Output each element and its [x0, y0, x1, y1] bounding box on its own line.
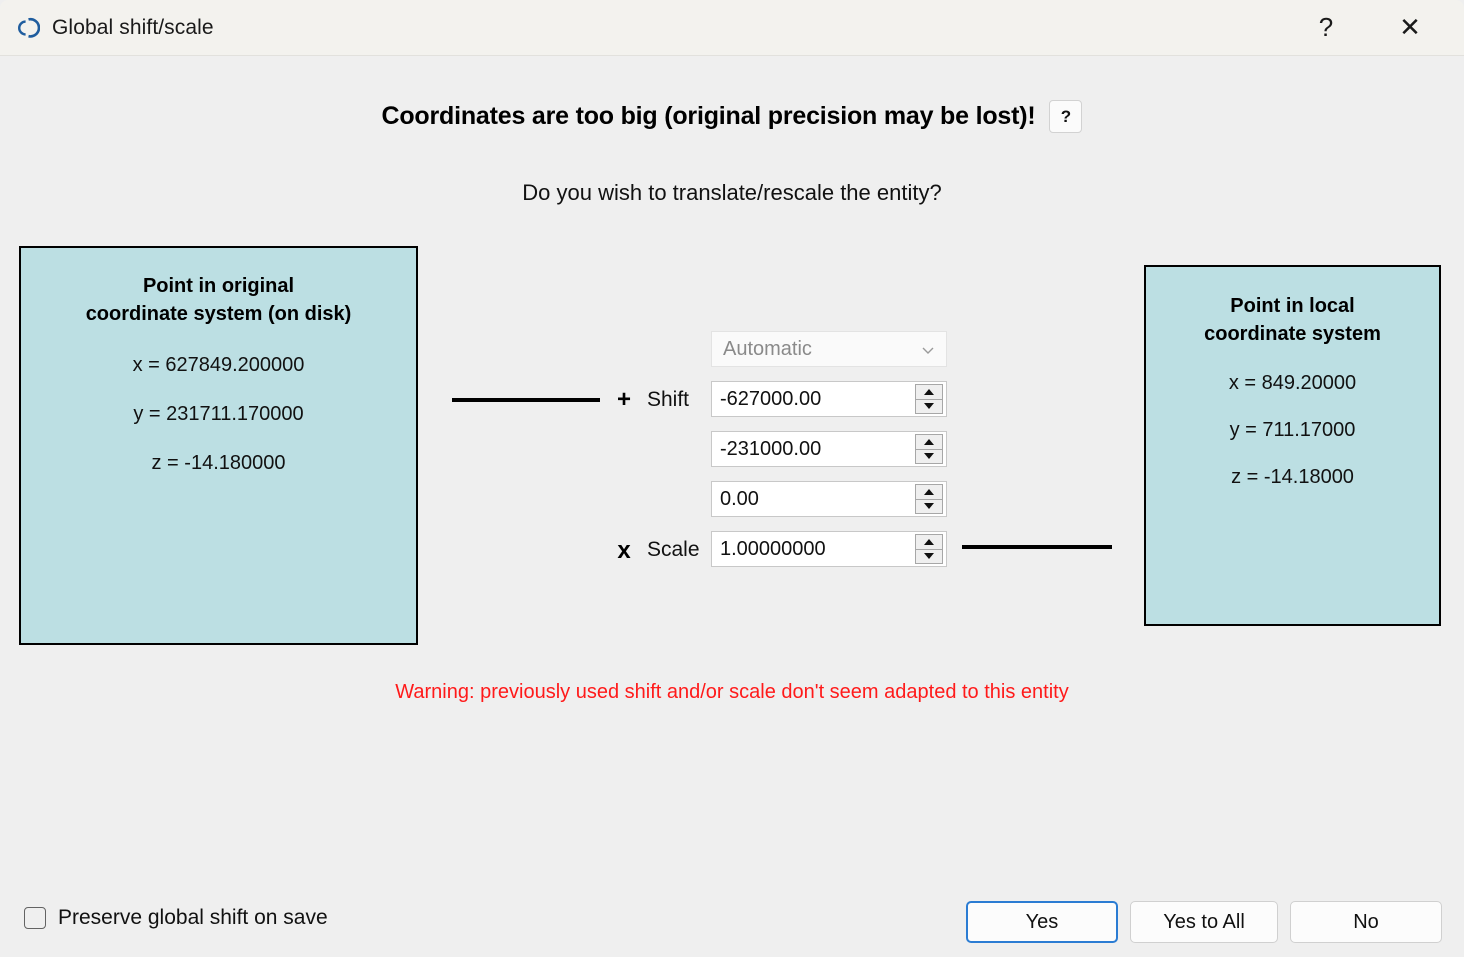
shift-x-increment-button[interactable]	[916, 385, 942, 399]
triangle-down-icon	[924, 403, 934, 409]
shift-y-field[interactable]: -231000.00	[711, 431, 947, 467]
shift-z-increment-button[interactable]	[916, 485, 942, 499]
connector-line-left	[452, 398, 600, 402]
scale-increment-button[interactable]	[916, 535, 942, 549]
shift-z-value: 0.00	[720, 488, 759, 511]
shift-y-increment-button[interactable]	[916, 435, 942, 449]
original-coordinates-box: Point in original coordinate system (on …	[19, 246, 418, 645]
scale-spinbox[interactable]: 1.00000000	[711, 531, 947, 567]
title-bar: Global shift/scale ? ✕	[0, 0, 1464, 56]
scale-field[interactable]: 1.00000000	[711, 531, 947, 567]
triangle-up-icon	[924, 539, 934, 545]
multiply-sign-icon: x	[612, 537, 636, 565]
shift-x-decrement-button[interactable]	[916, 399, 942, 414]
page-title: Coordinates are too big (original precis…	[382, 102, 1036, 131]
scale-decrement-button[interactable]	[916, 549, 942, 564]
original-box-title: Point in original coordinate system (on …	[21, 272, 416, 328]
shift-label: Shift	[647, 388, 689, 412]
shift-x-value: -627000.00	[720, 388, 821, 411]
local-coordinates-box: Point in local coordinate system x = 849…	[1144, 265, 1441, 626]
triangle-up-icon	[924, 439, 934, 445]
shift-z-field[interactable]: 0.00	[711, 481, 947, 517]
original-box-title-line2: coordinate system (on disk)	[21, 300, 416, 328]
heading-help-button[interactable]: ?	[1049, 100, 1082, 133]
preserve-global-shift-checkbox[interactable]	[24, 907, 46, 929]
triangle-down-icon	[924, 503, 934, 509]
shift-z-stepper[interactable]	[915, 484, 943, 514]
plus-sign-icon: +	[612, 386, 636, 414]
local-y-value: y = 711.17000	[1146, 419, 1439, 442]
triangle-up-icon	[924, 389, 934, 395]
chevron-down-icon	[921, 343, 935, 357]
yes-to-all-button[interactable]: Yes to All	[1130, 901, 1278, 943]
shift-z-spinbox[interactable]: 0.00	[711, 481, 947, 517]
close-icon[interactable]: ✕	[1382, 3, 1438, 53]
preserve-global-shift-label: Preserve global shift on save	[58, 906, 328, 930]
shift-x-stepper[interactable]	[915, 384, 943, 414]
shift-y-decrement-button[interactable]	[916, 449, 942, 464]
original-y-value: y = 231711.170000	[21, 403, 416, 426]
local-box-title-line2: coordinate system	[1146, 320, 1439, 348]
yes-button[interactable]: Yes	[966, 901, 1118, 943]
local-x-value: x = 849.20000	[1146, 372, 1439, 395]
cloudcompare-logo-icon	[12, 13, 42, 43]
shift-mode-combo[interactable]: Automatic	[711, 331, 947, 367]
shift-x-field[interactable]: -627000.00	[711, 381, 947, 417]
connector-line-right	[962, 545, 1112, 549]
warning-message: Warning: previously used shift and/or sc…	[0, 681, 1464, 704]
original-x-value: x = 627849.200000	[21, 354, 416, 377]
shift-z-decrement-button[interactable]	[916, 499, 942, 514]
shift-x-spinbox[interactable]: -627000.00	[711, 381, 947, 417]
window-title: Global shift/scale	[52, 16, 214, 40]
preserve-global-shift-checkbox-row[interactable]: Preserve global shift on save	[24, 906, 328, 930]
original-box-title-line1: Point in original	[21, 272, 416, 300]
local-box-title: Point in local coordinate system	[1146, 292, 1439, 348]
scale-label: Scale	[647, 538, 700, 562]
shift-mode-combo-value: Automatic	[723, 338, 812, 361]
shift-y-spinbox[interactable]: -231000.00	[711, 431, 947, 467]
local-box-title-line1: Point in local	[1146, 292, 1439, 320]
triangle-up-icon	[924, 489, 934, 495]
shift-y-stepper[interactable]	[915, 434, 943, 464]
local-z-value: z = -14.18000	[1146, 466, 1439, 489]
heading-row: Coordinates are too big (original precis…	[0, 100, 1464, 133]
page-subtitle: Do you wish to translate/rescale the ent…	[0, 180, 1464, 206]
scale-stepper[interactable]	[915, 534, 943, 564]
shift-y-value: -231000.00	[720, 438, 821, 461]
original-z-value: z = -14.180000	[21, 452, 416, 475]
scale-value: 1.00000000	[720, 538, 826, 561]
no-button[interactable]: No	[1290, 901, 1442, 943]
triangle-down-icon	[924, 453, 934, 459]
titlebar-help-button[interactable]: ?	[1298, 3, 1354, 53]
triangle-down-icon	[924, 553, 934, 559]
